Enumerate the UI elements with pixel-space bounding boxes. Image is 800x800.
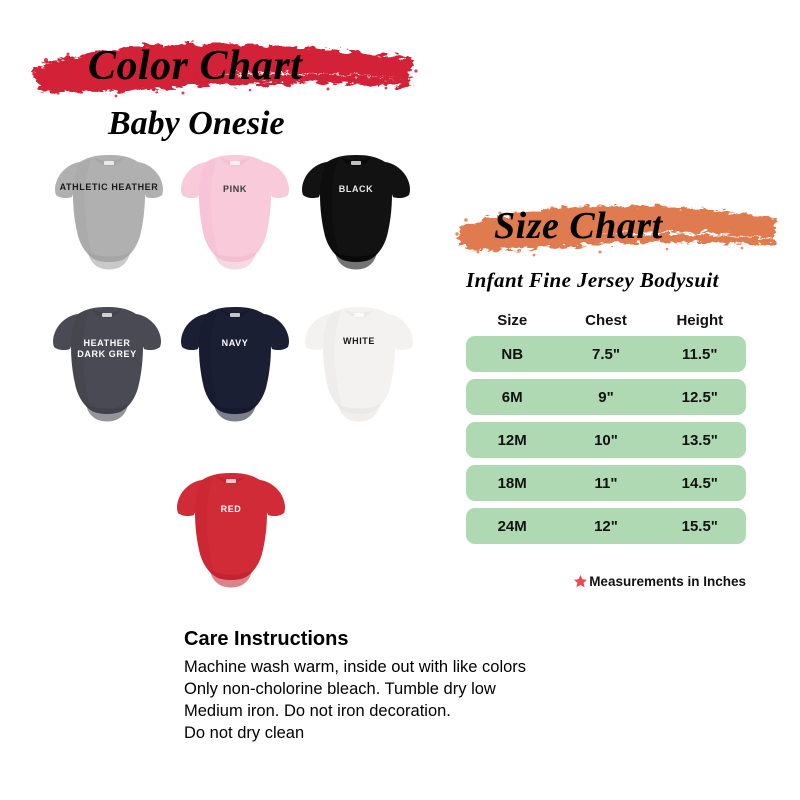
measurements-note-text: Measurements in Inches xyxy=(589,574,746,589)
care-instruction-line: Medium iron. Do not iron decoration. xyxy=(184,700,526,722)
onesie-swatch-heather-dark-grey[interactable]: HEATHERDARK GREY xyxy=(48,300,166,428)
onesie-graphic xyxy=(300,300,418,428)
onesie-swatch-navy[interactable]: NAVY xyxy=(176,300,294,428)
onesie-swatch-athletic-heather[interactable]: ATHLETIC HEATHER xyxy=(50,148,168,276)
size-chart-title: Size Chart xyxy=(494,204,663,248)
onesie-swatch-pink[interactable]: PINK xyxy=(176,148,294,276)
cell-height: 11.5" xyxy=(654,346,746,363)
cell-size: 12M xyxy=(466,432,558,449)
cell-height: 14.5" xyxy=(654,475,746,492)
care-instruction-line: Only non-cholorine bleach. Tumble dry lo… xyxy=(184,678,526,700)
baby-onesie-subtitle: Baby Onesie xyxy=(108,105,285,143)
column-header-chest: Chest xyxy=(558,312,653,329)
size-table: Size Chest Height NB 7.5" 11.5"6M 9" 12.… xyxy=(466,312,746,551)
measurements-note: Measurements in Inches xyxy=(466,574,746,589)
cell-size: 6M xyxy=(466,389,558,406)
cell-height: 13.5" xyxy=(654,432,746,449)
cell-chest: 7.5" xyxy=(558,346,653,363)
column-header-size: Size xyxy=(466,312,558,329)
care-instruction-line: Machine wash warm, inside out with like … xyxy=(184,656,526,678)
onesie-graphic xyxy=(172,466,290,594)
table-row: 12M 10" 13.5" xyxy=(466,422,746,458)
cell-size: NB xyxy=(466,346,558,363)
color-chart-title: Color Chart xyxy=(88,42,302,90)
care-instruction-line: Do not dry clean xyxy=(184,722,526,744)
size-chart-page: Color Chart Baby Onesie ATHLETIC HEATHER xyxy=(0,0,800,800)
size-chart-heading: Size Chart xyxy=(452,200,782,258)
size-table-header-row: Size Chest Height xyxy=(466,312,746,329)
cell-chest: 10" xyxy=(558,432,653,449)
care-instructions: Care Instructions Machine wash warm, ins… xyxy=(184,628,526,744)
onesie-graphic xyxy=(176,148,294,276)
column-header-height: Height xyxy=(654,312,746,329)
cell-chest: 11" xyxy=(558,475,653,492)
onesie-swatch-red[interactable]: RED xyxy=(172,466,290,594)
cell-height: 12.5" xyxy=(654,389,746,406)
onesie-graphic xyxy=(50,148,168,276)
cell-chest: 9" xyxy=(558,389,653,406)
onesie-graphic xyxy=(48,300,166,428)
color-chart-heading: Color Chart xyxy=(28,38,418,100)
star-icon xyxy=(573,574,588,589)
cell-size: 18M xyxy=(466,475,558,492)
bodysuit-subtitle: Infant Fine Jersey Bodysuit xyxy=(466,268,719,293)
table-row: 18M 11" 14.5" xyxy=(466,465,746,501)
onesie-swatch-black[interactable]: BLACK xyxy=(297,148,415,276)
onesie-graphic xyxy=(176,300,294,428)
onesie-graphic xyxy=(297,148,415,276)
table-row: NB 7.5" 11.5" xyxy=(466,336,746,372)
table-row: 6M 9" 12.5" xyxy=(466,379,746,415)
cell-size: 24M xyxy=(466,518,558,535)
table-row: 24M 12" 15.5" xyxy=(466,508,746,544)
cell-height: 15.5" xyxy=(654,518,746,535)
care-instructions-title: Care Instructions xyxy=(184,628,526,651)
cell-chest: 12" xyxy=(558,518,653,535)
onesie-swatch-white[interactable]: WHITE xyxy=(300,300,418,428)
